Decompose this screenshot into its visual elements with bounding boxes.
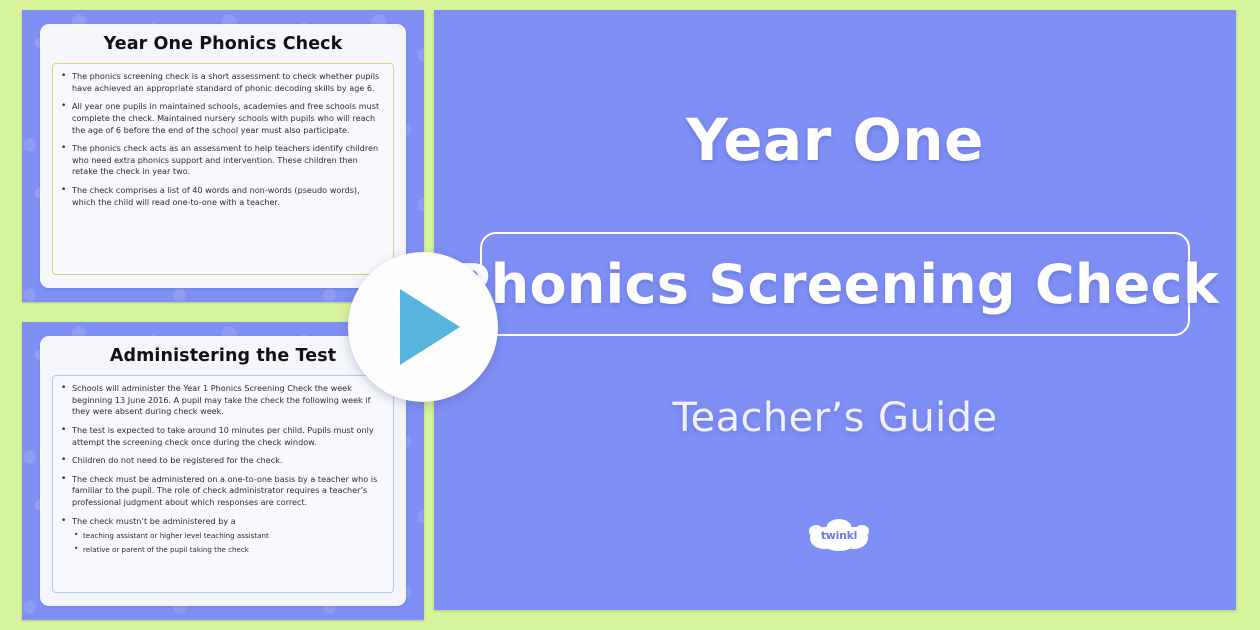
main-title-slide[interactable]: Year One Phonics Screening Check Teacher…: [434, 10, 1236, 610]
subtitle-frame: Phonics Screening Check: [480, 232, 1190, 336]
subtitle: Phonics Screening Check: [451, 253, 1219, 316]
list-item-text: The check mustn’t be administered by a: [72, 516, 236, 526]
twinkl-wordmark: twinkl: [808, 529, 870, 542]
sub-list-item: relative or parent of the pupil taking t…: [72, 545, 384, 555]
list-item: Children do not need to be registered fo…: [59, 455, 384, 467]
slide-1-title: Year One Phonics Check: [52, 34, 394, 54]
slide-2-card: Administering the Test Schools will admi…: [40, 336, 406, 606]
list-item: The check must be administered on a one-…: [59, 474, 384, 509]
twinkl-logo: twinkl: [808, 518, 870, 552]
slide-1-body: The phonics screening check is a short a…: [52, 63, 394, 275]
sub-list-item: teaching assistant or higher level teach…: [72, 531, 384, 541]
list-item: The test is expected to take around 10 m…: [59, 425, 384, 448]
presentation-preview: Year One Phonics Check The phonics scree…: [0, 0, 1260, 630]
slide-thumbnail-1[interactable]: Year One Phonics Check The phonics scree…: [22, 10, 424, 302]
list-item: Schools will administer the Year 1 Phoni…: [59, 383, 384, 418]
guide-label: Teacher’s Guide: [434, 395, 1236, 441]
list-item: All year one pupils in maintained school…: [59, 101, 384, 136]
list-item: The phonics check acts as an assessment …: [59, 143, 384, 178]
slide-2-title: Administering the Test: [52, 346, 394, 366]
list-item: The check comprises a list of 40 words a…: [59, 185, 384, 208]
play-button[interactable]: [348, 252, 498, 402]
slide-1-card: Year One Phonics Check The phonics scree…: [40, 24, 406, 288]
play-icon: [400, 289, 460, 365]
list-item: The phonics screening check is a short a…: [59, 71, 384, 94]
list-item: The check mustn’t be administered by a t…: [59, 516, 384, 555]
page-title: Year One: [434, 106, 1236, 174]
slide-2-bullet-list: Schools will administer the Year 1 Phoni…: [59, 383, 384, 555]
slide-1-bullet-list: The phonics screening check is a short a…: [59, 71, 384, 208]
slide-2-sub-bullet-list: teaching assistant or higher level teach…: [72, 531, 384, 554]
slide-2-body: Schools will administer the Year 1 Phoni…: [52, 375, 394, 593]
